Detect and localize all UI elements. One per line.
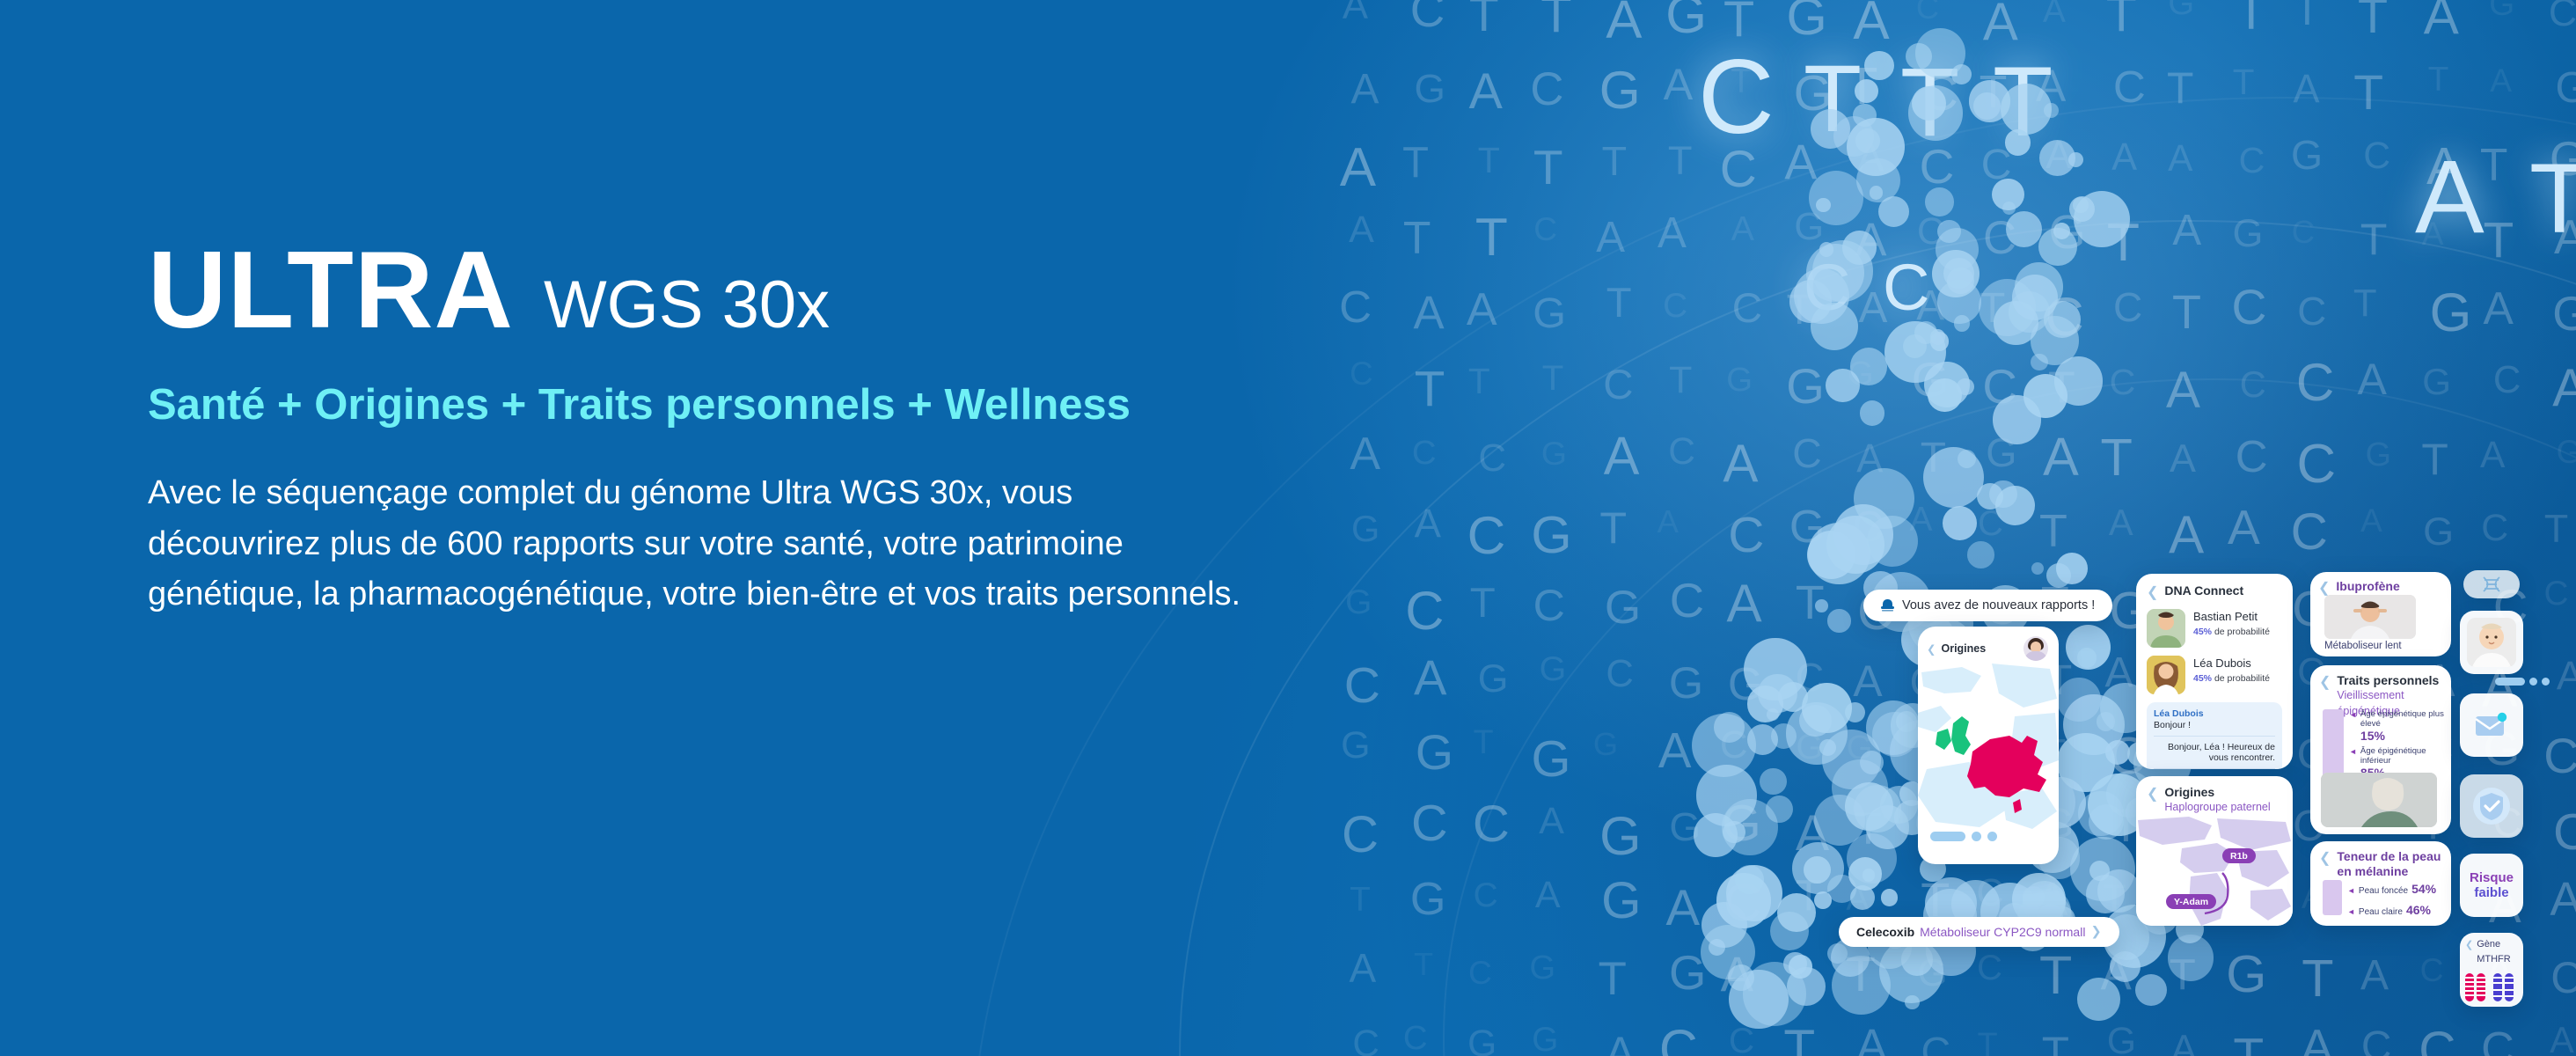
chevron-left-icon[interactable]: ❮: [2319, 849, 2331, 867]
dna-base-letter: A: [2293, 69, 2319, 108]
chevron-left-icon[interactable]: ❮: [2465, 939, 2473, 950]
melanin-card[interactable]: ❮ Teneur de la peau en mélanine ◄ Peau f…: [2310, 841, 2451, 926]
bubble-dot: [1694, 813, 1738, 857]
mthfr-gene-card[interactable]: ❮ Gène MTHFR: [2460, 933, 2523, 1007]
chevron-left-icon[interactable]: ❮: [2319, 673, 2331, 691]
envelope-icon[interactable]: [2460, 693, 2523, 757]
divider: [2154, 736, 2275, 737]
haplogroup-subtitle: Haplogroupe paternel: [2164, 801, 2270, 813]
haplogroup-title: Origines: [2164, 785, 2270, 799]
dna-base-letter: G: [1599, 810, 1641, 863]
bubble-dot: [1878, 196, 1909, 227]
bubble-dot: [1855, 79, 1878, 103]
dna-base-letter: T: [2353, 284, 2377, 323]
bubble-dot: [1995, 486, 2036, 526]
dna-base-letter: G: [1341, 727, 1370, 765]
dna-base-letter: C: [2296, 356, 2334, 409]
gene-label-line1: Gène: [2477, 939, 2511, 950]
dna-base-letter: T: [1533, 143, 1563, 192]
chat-sender: Léa Dubois: [2154, 708, 2275, 719]
dna-base-letter: T: [1668, 141, 1693, 180]
bubble-dot: [1760, 768, 1787, 796]
haplogroup-card[interactable]: ❮ Origines Haplogroupe paternel R: [2136, 776, 2293, 926]
dna-base-letter: A: [1343, 0, 1368, 25]
male-portrait: [2147, 609, 2185, 648]
dna-base-letter: G: [2557, 436, 2576, 468]
dna-base-letter: G: [1593, 729, 1618, 760]
dna-base-letter: G: [1533, 292, 1566, 335]
marker-icon: ◄: [2349, 748, 2357, 757]
chat-thread[interactable]: Léa Dubois Bonjour ! Bonjour, Léa ! Heur…: [2147, 702, 2282, 769]
phone-card-title: Origines: [1941, 642, 1986, 655]
dna-base-letter: C: [2481, 510, 2508, 547]
bubble-dot: [1714, 712, 1745, 743]
bubble-dot: [1815, 599, 1828, 612]
dna-base-letter: C: [1478, 439, 1506, 478]
dna-base-letter: T: [2358, 0, 2388, 41]
dna-base-letter: A: [2228, 503, 2260, 552]
marker-icon: ◄: [2347, 908, 2355, 917]
bubble-dot: [1958, 450, 1976, 468]
dna-base-letter: C: [2236, 435, 2268, 480]
dna-base-letter: T: [1414, 949, 1433, 980]
melanin-bar: [2323, 880, 2342, 915]
chromosome-pairs-icon: [2463, 972, 2520, 1003]
haplogroup-tag[interactable]: Y-Adam: [2166, 894, 2216, 909]
dna-base-letter: C: [1659, 1023, 1698, 1056]
dna-base-letter: C: [1467, 509, 1506, 561]
dna-base-letter: C: [1606, 656, 1633, 694]
bubble-dot: [1994, 301, 2038, 345]
marker-icon: ◄: [2349, 711, 2357, 720]
melanin-row-label: Peau claire: [2359, 907, 2403, 917]
dna-base-letter: G: [1414, 69, 1445, 109]
dna-base-letter: C: [1533, 583, 1565, 627]
bubble-dot: [1967, 541, 1994, 568]
notification-text: Vous avez de nouveaux rapports !: [1902, 598, 2095, 612]
pagination-dot[interactable]: [2542, 678, 2550, 686]
dna-base-letter: G: [1531, 509, 1571, 561]
dna-base-letter: G: [1605, 584, 1641, 631]
dna-base-letter: A: [1350, 431, 1380, 477]
dna-base-letter: A: [1606, 0, 1642, 47]
dna-base-letter: C: [2292, 216, 2315, 248]
dna-base-letter: A: [1340, 141, 1376, 195]
dna-base-letter: A: [1415, 503, 1441, 543]
dna-base-letter: T: [1669, 362, 1692, 400]
dna-base-letter: G: [2556, 67, 2576, 110]
dna-base-letter: C: [2549, 0, 2576, 33]
ibuprofen-header: ❮ Ibuprofène: [2318, 579, 2443, 597]
traits-row-label: Âge épigénétique inférieur: [2360, 746, 2451, 766]
haplogroup-tag[interactable]: R1b: [2222, 848, 2256, 863]
melanin-row: ◄ Peau foncée 54%: [2347, 882, 2436, 896]
dna-base-letter: A: [1349, 949, 1376, 989]
traits-row-value: 15%: [2360, 729, 2385, 743]
bubble-dot: [2001, 84, 2052, 135]
dna-base-letter: A: [1658, 726, 1692, 775]
dna-base-letter: C: [1603, 364, 1633, 406]
dna-base-letter: G: [1669, 661, 1703, 705]
dna-base-letter: C: [1405, 584, 1444, 638]
marker-icon: ◄: [2347, 887, 2355, 896]
dna-base-letter: G: [1530, 951, 1556, 985]
dna-base-letter: G: [2366, 438, 2391, 472]
smiling-woman-photo: [2321, 773, 2437, 827]
personal-traits-card[interactable]: ❮ Traits personnels Vieillissement épigé…: [2310, 665, 2451, 834]
dna-base-letter: G: [1665, 0, 1707, 41]
dna-base-letter: T: [1402, 142, 1429, 185]
phone-card-title-group: ❮ Origines: [1927, 642, 1986, 656]
shield-check-icon[interactable]: [2460, 774, 2523, 838]
bubble-dot: [1947, 268, 1973, 294]
dna-base-letter: C: [1411, 799, 1448, 850]
bubble-dot: [1789, 955, 1811, 978]
ibuprofen-status: Métaboliseur lent: [2324, 641, 2402, 651]
dna-base-letter: T: [2544, 510, 2568, 550]
celecoxib-result-pill[interactable]: Celecoxib Métaboliseur CYP2C9 normall ❯: [1839, 917, 2119, 947]
dna-base-letter: A: [2552, 362, 2576, 414]
hero-banner: ACTTAGTGACAATGTTTAGCAGACGATGTCTACTTATTAG…: [0, 0, 2576, 1056]
dna-base-letter: G: [1540, 652, 1567, 686]
pagination-dot-active[interactable]: [1930, 832, 1965, 841]
dna-base-letter: G: [2422, 363, 2451, 400]
dna-base-letter: A: [1666, 884, 1701, 935]
dna-base-letter: A: [1664, 62, 1694, 106]
bubble-dot: [1735, 865, 1764, 894]
bubble-dot: [1709, 939, 1725, 956]
bubble-dot: [2002, 202, 2016, 215]
origins-phone-card[interactable]: ❮ Origines: [1918, 627, 2059, 864]
chat-message: Bonjour !: [2154, 720, 2275, 730]
highlighted-base-letter: A: [2415, 145, 2485, 249]
dna-base-letter: T: [1415, 364, 1445, 414]
dna-base-letter: T: [2421, 438, 2448, 482]
dna-base-letter: A: [1535, 876, 1561, 914]
bubble-dot: [1729, 970, 1789, 1030]
dna-base-letter: G: [1532, 735, 1571, 786]
divider: [2154, 768, 2275, 769]
epigenetic-age-bar: [2323, 709, 2344, 778]
dna-base-letter: A: [1604, 429, 1640, 483]
risk-label-line2: faible: [2474, 885, 2508, 900]
chat-message: Bonjour, Léa ! Heureux de vous rencontre…: [2154, 742, 2275, 763]
dna-base-letter: C: [1533, 213, 1557, 246]
pagination-dot[interactable]: [1987, 832, 1997, 841]
drug-status: Métaboliseur CYP2C9 normall: [1920, 925, 2085, 939]
bubble-dot: [1747, 686, 1783, 722]
dna-base-letter: A: [1469, 67, 1503, 117]
dna-connect-card[interactable]: ❮ DNA Connect Bastian Petit 45% de proba…: [2136, 574, 2293, 769]
app-screens-cluster: Vous avez de nouveaux rapports ! ❮ Origi…: [1830, 572, 2576, 1056]
dna-base-letter: C: [1530, 67, 1563, 114]
melanin-row-value: 46%: [2406, 903, 2431, 917]
female-portrait: [2147, 656, 2185, 694]
match-prob-label: de probabilité: [2214, 627, 2270, 637]
world-map: [2136, 815, 2293, 926]
melanin-row: ◄ Peau claire 46%: [2347, 903, 2431, 917]
dna-base-letter: A: [2357, 357, 2386, 401]
bubble-dot: [1957, 378, 1973, 395]
dna-base-letter: C: [1403, 1022, 1428, 1055]
dna-base-letter: T: [1469, 0, 1499, 39]
dna-base-letter: A: [1658, 506, 1679, 538]
dna-base-letter: T: [2484, 216, 2514, 267]
capsule-icon: [2424, 595, 2441, 637]
dna-base-letter: T: [1475, 210, 1508, 264]
risk-label-line1: Risque: [2470, 870, 2514, 885]
chevron-right-icon[interactable]: ❯: [2090, 925, 2101, 939]
dna-base-letter: A: [2490, 64, 2512, 97]
chevron-left-icon[interactable]: ❮: [1927, 642, 1936, 656]
dna-base-letter: A: [2484, 286, 2514, 332]
dna-base-letter: T: [1478, 143, 1500, 179]
dna-base-letter: G: [2552, 290, 2576, 338]
dna-base-letter: T: [2353, 69, 2383, 117]
dna-base-letter: T: [1540, 0, 1571, 41]
dna-connect-title: DNA Connect: [2164, 583, 2243, 598]
dna-base-letter: G: [1351, 510, 1379, 546]
dna-base-letter: C: [1670, 577, 1704, 625]
dna-base-letter: T: [2233, 64, 2255, 99]
dna-base-letter: G: [1541, 437, 1567, 470]
highlighted-base-letter: T: [2529, 150, 2576, 248]
pagination-dot[interactable]: [2529, 678, 2537, 686]
dna-base-letter: A: [2424, 0, 2459, 42]
pagination-dot-active[interactable]: [2495, 678, 2525, 686]
dna-base-letter: A: [1605, 1030, 1635, 1056]
dna-base-letter: G: [1410, 876, 1446, 922]
match-prob-label: de probabilité: [2214, 673, 2270, 684]
dna-base-letter: A: [1350, 69, 1379, 111]
hero-description: Avec le séquençage complet du génome Ult…: [148, 468, 1248, 620]
dna-base-letter: T: [1350, 884, 1371, 918]
melanin-row-value: 54%: [2411, 882, 2436, 896]
match-percent: 45%: [2193, 627, 2212, 637]
dna-base-letter: G: [1478, 660, 1509, 700]
pagination-dots[interactable]: [1930, 832, 1997, 841]
dna-base-letter: T: [1403, 216, 1431, 261]
dna-base-letter: A: [1414, 653, 1446, 702]
dna-base-letter: C: [2297, 291, 2326, 332]
dna-base-letter: C: [1410, 0, 1445, 34]
bubble-dot: [2006, 211, 2043, 248]
haplogroup-header: ❮ Origines Haplogroupe paternel: [2147, 785, 2282, 815]
dna-base-letter: C: [1352, 1025, 1379, 1056]
dna-base-letter: C: [1412, 436, 1437, 470]
dna-helix-icon[interactable]: [2463, 570, 2520, 598]
dna-base-letter: C: [1344, 661, 1380, 711]
headache-woman-photo: [2324, 595, 2416, 639]
dna-base-letter: A: [1539, 803, 1564, 840]
dna-base-letter: C: [1339, 284, 1372, 329]
new-reports-notification[interactable]: Vous avez de nouveaux rapports !: [1863, 590, 2112, 621]
dna-base-letter: C: [2240, 366, 2266, 403]
baby-photo[interactable]: [2460, 611, 2523, 674]
title-sub: WGS 30x: [544, 272, 830, 339]
dna-base-letter: T: [1470, 583, 1496, 624]
dna-base-letter: G: [2423, 512, 2454, 552]
dna-base-letter: C: [2493, 362, 2521, 400]
icon-column: Risque faible ❮ Gène MTHFR: [2460, 570, 2576, 1056]
dna-base-letter: T: [1599, 957, 1627, 1003]
dna-base-letter: T: [1468, 363, 1490, 400]
dna-base-letter: T: [2236, 0, 2266, 38]
dna-base-letter: G: [2291, 135, 2323, 175]
dna-base-letter: C: [1350, 358, 1372, 391]
dna-base-letter: G: [1345, 586, 1372, 620]
dna-base-letter: T: [1602, 141, 1627, 182]
dna-base-letter: C: [1474, 879, 1498, 913]
dna-base-letter: A: [1467, 287, 1497, 333]
ibuprofen-title: Ibuprofène: [2336, 579, 2399, 593]
bubble-dot: [1770, 912, 1809, 950]
pagination-dot[interactable]: [1972, 832, 1981, 841]
dna-base-letter: C: [1473, 799, 1510, 850]
dna-base-letter: C: [1668, 433, 1695, 470]
dna-base-letter: G: [1599, 63, 1641, 116]
page-title: ULTRA WGS 30x: [148, 236, 1318, 345]
dna-base-letter: C: [1342, 810, 1379, 861]
dna-connect-header: ❮ DNA Connect: [2147, 583, 2282, 601]
dna-base-letter: T: [2428, 63, 2449, 98]
bubble-dot: [1925, 187, 1953, 216]
dna-base-letter: G: [2232, 214, 2263, 253]
chevron-left-icon[interactable]: ❮: [2147, 785, 2158, 803]
bubble-dot: [1860, 400, 1885, 426]
traits-row-label: Âge épigénétique plus élevé: [2360, 709, 2451, 729]
chevron-left-icon[interactable]: ❮: [2318, 579, 2330, 597]
traits-title: Traits personnels: [2337, 673, 2442, 687]
bubble-dot: [1766, 796, 1793, 823]
bubble-dot: [2023, 374, 2067, 418]
gene-label-line2: MTHFR: [2477, 954, 2511, 964]
dna-base-letter: C: [1468, 957, 1492, 989]
bubble-dot: [1747, 724, 1778, 755]
bubble-dot: [1943, 506, 1977, 540]
dna-base-letter: T: [1474, 726, 1494, 759]
hero-copy: ULTRA WGS 30x Santé + Origines + Traits …: [148, 236, 1318, 620]
dna-base-letter: G: [2489, 0, 2514, 20]
dna-base-letter: T: [1606, 282, 1632, 323]
drug-name: Celecoxib: [1856, 925, 1914, 939]
bubble-dot: [1826, 369, 1859, 402]
dna-base-letter: A: [1413, 290, 1444, 337]
dna-base-letter: C: [2291, 507, 2328, 558]
dna-base-letter: C: [2231, 283, 2266, 332]
bubble-dot: [1809, 171, 1863, 225]
dna-base-letter: A: [1596, 216, 1625, 260]
bubble-dot: [2039, 140, 2075, 176]
dna-base-letter: A: [1349, 211, 1374, 249]
ibuprofen-card[interactable]: ❮ Ibuprofène Métaboliseur lent: [2310, 572, 2451, 656]
dna-base-letter: A: [2360, 504, 2382, 537]
notification-dot: [2498, 713, 2506, 722]
list-item[interactable]: Léa Dubois 45% de probabilité: [2147, 656, 2282, 694]
dna-base-letter: C: [2239, 143, 2265, 179]
bubble-dot: [1864, 51, 1894, 81]
pagination-dots[interactable]: [2495, 678, 2550, 686]
dna-base-letter: C: [1663, 290, 1687, 324]
europe-map: [1918, 664, 2059, 831]
match-name: Bastian Petit: [2193, 610, 2258, 623]
chevron-left-icon[interactable]: ❮: [2147, 583, 2158, 601]
dna-base-letter: T: [2294, 0, 2320, 33]
melanin-row-label: Peau foncée: [2359, 886, 2408, 896]
dna-base-letter: A: [2480, 436, 2505, 474]
dna-base-letter: G: [1601, 876, 1641, 927]
list-item[interactable]: Bastian Petit 45% de probabilité: [2147, 609, 2282, 648]
dna-base-letter: G: [1532, 1023, 1558, 1056]
match-name: Léa Dubois: [2193, 656, 2251, 670]
dna-base-letter: G: [1416, 729, 1453, 777]
melanin-header: ❮ Teneur de la peau en mélanine: [2319, 849, 2442, 879]
dna-base-letter: T: [2360, 217, 2388, 261]
bubble-dot: [2031, 354, 2047, 370]
dna-base-letter: C: [2296, 437, 2336, 492]
bubble-dot: [1847, 118, 1905, 176]
dna-base-letter: T: [1542, 361, 1564, 396]
match-percent: 45%: [2193, 673, 2212, 684]
phone-card-header: ❮ Origines: [1918, 627, 2059, 661]
low-risk-badge[interactable]: Risque faible: [2460, 854, 2523, 917]
bubble-dot: [1915, 28, 1965, 77]
avatar[interactable]: [2023, 636, 2048, 661]
bell-icon: [1881, 598, 1894, 612]
dna-base-letter: A: [1658, 211, 1687, 254]
melanin-title: Teneur de la peau en mélanine: [2337, 849, 2442, 879]
dna-base-letter: G: [1467, 1025, 1497, 1056]
traits-row: ◄ Âge épigénétique plus élevé 15%: [2349, 709, 2451, 744]
title-main: ULTRA: [148, 236, 514, 345]
dna-base-letter: G: [2430, 285, 2472, 339]
dna-base-letter: C: [2363, 137, 2390, 175]
dna-base-letter: T: [1599, 506, 1627, 550]
hero-subtitle: Santé + Origines + Traits personnels + W…: [148, 380, 1133, 431]
